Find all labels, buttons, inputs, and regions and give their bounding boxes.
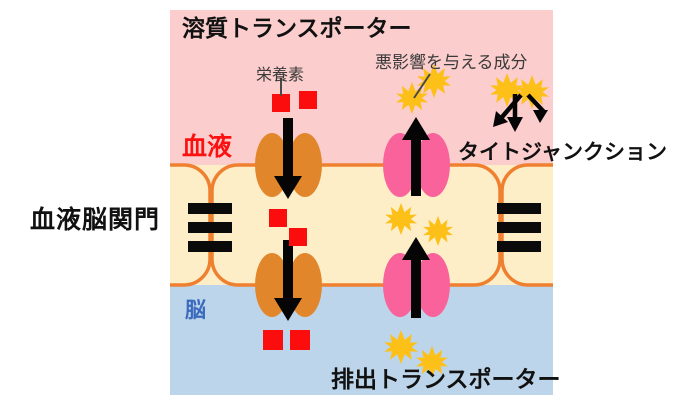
- brain-region-label: 脳: [185, 299, 206, 322]
- nutrient-square: [263, 330, 283, 350]
- arrow-shaft: [283, 240, 293, 303]
- diagram-canvas: 血液脳関門: [0, 0, 700, 419]
- nutrient-square: [272, 94, 290, 112]
- efflux-transporter-title: 排出トランスポーター: [331, 366, 561, 392]
- tight-junction-bar: [188, 241, 232, 252]
- tight-junction-bar: [188, 203, 232, 214]
- nutrient-square: [269, 209, 287, 227]
- tight-junction-bar: [497, 203, 541, 214]
- transporter-lobe: [416, 253, 450, 317]
- tight-junction-bar: [497, 222, 541, 233]
- tight-junction-label: タイトジャンクション: [458, 141, 667, 164]
- nutrient-square: [290, 330, 310, 350]
- endothelial-cell-2: [212, 165, 500, 285]
- nutrient-square: [299, 91, 317, 109]
- tight-junction-bar: [188, 222, 232, 233]
- harmful-substance-label: 悪影響を与える成分: [375, 53, 528, 72]
- nutrient-square: [289, 228, 307, 246]
- bbb-schematic-svg: 溶質トランスポーター 悪影響を与える成分 栄養素 血液 タイトジャンクション 脳…: [0, 0, 700, 419]
- arrow-shaft: [283, 118, 293, 181]
- tight-junction-bar: [497, 241, 541, 252]
- arrow-shaft: [411, 254, 421, 318]
- transporter-lobe: [416, 133, 450, 197]
- tight-junction-left: [188, 203, 232, 252]
- nutrient-label: 栄養素: [256, 66, 304, 84]
- blood-region-label: 血液: [182, 132, 232, 161]
- arrow-shaft: [411, 134, 421, 196]
- tight-junction-right: [497, 203, 541, 252]
- solute-transporter-title: 溶質トランスポーター: [182, 15, 412, 41]
